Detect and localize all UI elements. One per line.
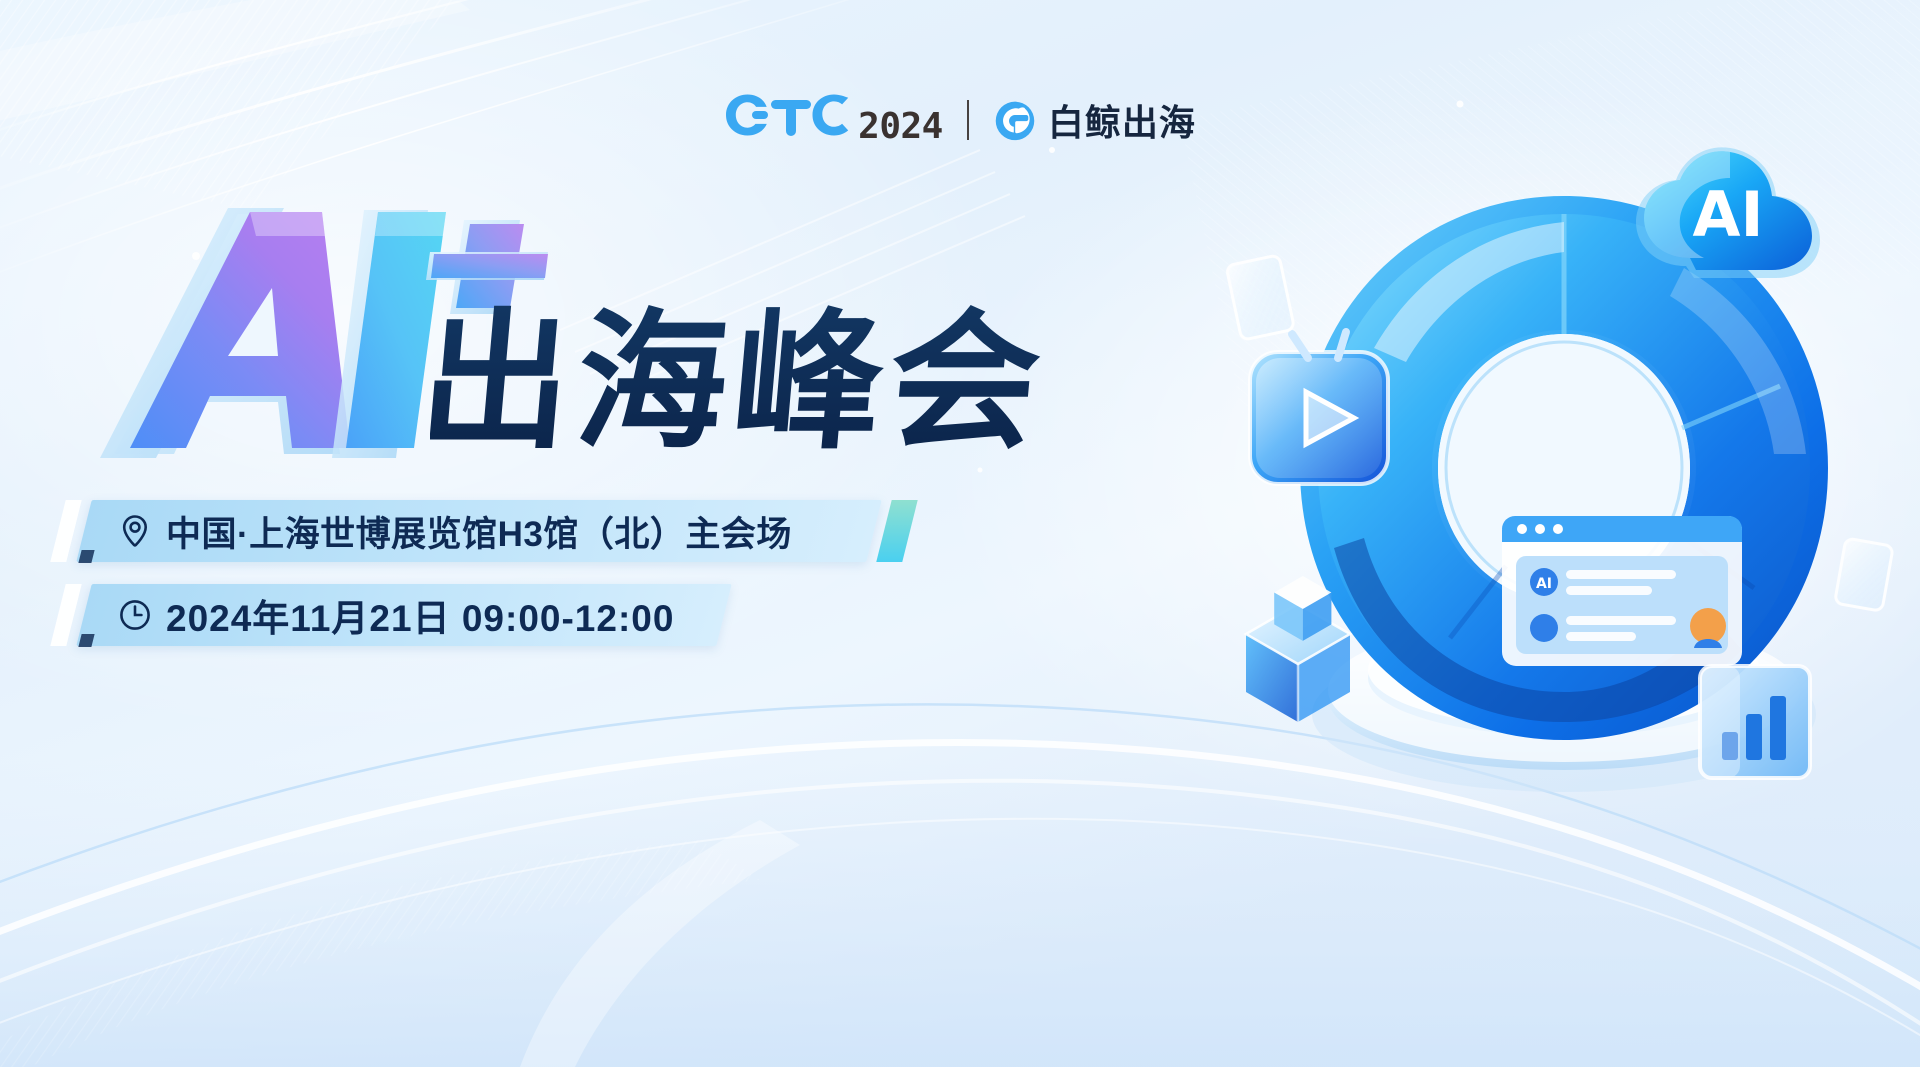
brand-name-label: 白鲸出海 [1048,94,1196,146]
brand-lockup: 白鲸出海 [993,94,1196,146]
datetime-label: 2024年11月21日 09:00-12:00 [166,588,674,642]
letter-A-group [100,208,350,458]
chinese-headline-text: 出海峰会 [430,296,1053,470]
letter-I-group [332,210,446,458]
location-pin-icon [118,514,152,548]
venue-chip: 中国·上海世博展览馆H3馆（北）主会场 [84,500,792,562]
datetime-chip-deco [50,584,81,646]
info-chip-list: 中国·上海世博展览馆H3馆（北）主会场 2024年11月21日 09:00-12… [84,500,792,668]
venue-chip-accent [876,500,917,562]
poster-stage: 2024 白鲸出海 [0,0,1920,1067]
ai-cloud-badge: AI [1636,147,1820,278]
chinese-headline: 出海峰会 [430,282,1110,482]
gtc-year-label: 2024 [858,106,943,147]
whale-logo-icon [993,98,1037,142]
hero-illustration: AI AI [1214,118,1914,878]
ai-cloud-label: AI [1692,178,1763,251]
gtc-logo: 2024 [724,92,943,147]
datetime-chip: 2024年11月21日 09:00-12:00 [84,584,792,646]
play-card [1250,332,1388,484]
gtc-wordmark-icon [724,92,850,138]
clock-icon [118,598,152,632]
bar-chart-card [1700,666,1810,778]
venue-chip-deco [50,500,81,562]
chat-window-card: AI [1502,516,1742,666]
ribbon-bottom-center [520,820,800,1067]
venue-label: 中国·上海世博展览馆H3馆（北）主会场 [166,506,792,557]
wave-hatch-bottom-left [0,840,760,1067]
ai-chat-badge: AI [1536,576,1552,592]
headline-block: 出海峰会 [78,196,1108,496]
logo-divider [967,100,969,140]
